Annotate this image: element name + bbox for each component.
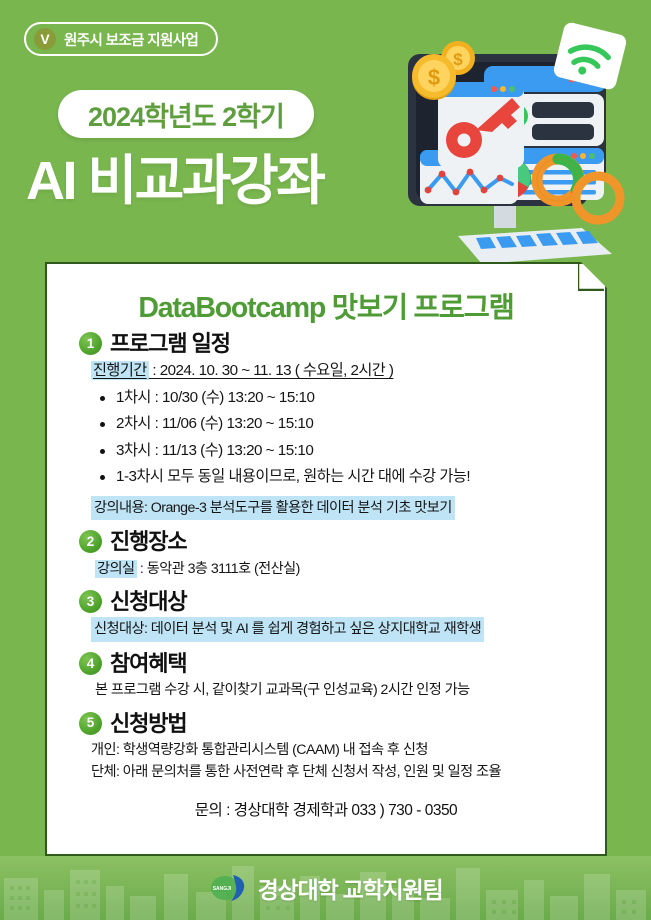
section-header: 5 신청방법 <box>79 711 587 736</box>
section-schedule: 1 프로그램 일정 진행기간 : 2024. 10. 30 ~ 11. 13 (… <box>65 331 587 520</box>
section-number-badge: 2 <box>79 530 102 553</box>
subsidy-badge: V 원주시 보조금 지원사업 <box>24 22 218 56</box>
poster-root: V 원주시 보조금 지원사업 2024학년도 2학기 AI 비교과강좌 <box>0 0 651 920</box>
section-number-badge: 4 <box>79 652 102 675</box>
list-item: 2차시 : 11/06 (수) 13:20 ~ 15:10 <box>99 411 587 437</box>
apply-group-line: 단체: 아래 문의처를 통한 사전연락 후 단체 신청서 작성, 인원 및 일정… <box>91 761 587 783</box>
section-number-badge: 5 <box>79 712 102 735</box>
target-text: 신청대상: 데이터 분석 및 AI 를 쉽게 경험하고 싶은 상지대학교 재학생 <box>91 617 484 641</box>
poster-title: AI 비교과강좌 <box>26 152 323 211</box>
period-value: : 2024. 10. 30 ~ 11. 13 ( 수요일, 2시간 ) <box>149 362 394 379</box>
section-header: 4 참여혜택 <box>79 651 587 676</box>
section-title: 신청방법 <box>110 711 187 736</box>
classroom-value: : 동악관 3층 3111호 (전산실) <box>137 561 300 577</box>
classroom-label: 강의실 <box>95 560 137 578</box>
subsidy-badge-label: 원주시 보조금 지원사업 <box>64 29 198 50</box>
benefit-line: 본 프로그램 수강 시, 같이찾기 교과목(구 인성교육) 2시간 인정 가능 <box>95 679 587 701</box>
university-logo-icon: SANGJI <box>209 871 249 905</box>
svg-text:SANGJI: SANGJI <box>212 886 231 892</box>
list-item: 1-3차시 모두 동일 내용이므로, 원하는 시간 대에 수강 가능! <box>99 464 587 490</box>
section-number-badge: 3 <box>79 590 102 613</box>
period-label: 진행기간 <box>91 361 149 380</box>
section-header: 3 신청대상 <box>79 589 587 614</box>
svg-text:$: $ <box>453 50 463 69</box>
section-location: 2 진행장소 강의실 : 동악관 3층 3111호 (전산실) <box>65 529 587 580</box>
footer-label: 경상대학 교학지원팀 <box>258 871 443 905</box>
semester-pill: 2024학년도 2학기 <box>58 90 314 138</box>
section-target: 3 신청대상 신청대상: 데이터 분석 및 AI 를 쉽게 경험하고 싶은 상지… <box>65 589 587 642</box>
section-benefit: 4 참여혜택 본 프로그램 수강 시, 같이찾기 교과목(구 인성교육) 2시간… <box>65 651 587 702</box>
section-title: 신청대상 <box>110 589 187 614</box>
footer-band: SANGJI 경상대학 교학지원팀 <box>0 856 651 920</box>
section-title: 참여혜택 <box>110 651 187 676</box>
lecture-content-text: 강의내용: Orange-3 분석도구를 활용한 데이터 분석 기초 맛보기 <box>91 496 455 520</box>
section-header: 2 진행장소 <box>79 529 587 554</box>
content-card: DataBootcamp 맛보기 프로그램 1 프로그램 일정 진행기간 : 2… <box>45 262 607 856</box>
svg-text:$: $ <box>428 65 440 90</box>
lecture-content-line: 강의내용: Orange-3 분석도구를 활용한 데이터 분석 기초 맛보기 <box>91 496 587 520</box>
section-header: 1 프로그램 일정 <box>79 331 587 356</box>
data-analytics-illustration: $ $ <box>386 22 644 272</box>
section-title: 프로그램 일정 <box>110 331 230 356</box>
list-item: 3차시 : 11/13 (수) 13:20 ~ 15:10 <box>99 438 587 464</box>
apply-individual-line: 개인: 학생역량강화 통합관리시스템 (CAAM) 내 접속 후 신청 <box>91 739 587 761</box>
semester-label: 2024학년도 2학기 <box>88 95 284 134</box>
wonju-v-icon: V <box>34 28 56 50</box>
contact-line: 문의 : 경상대학 경제학과 033 ) 730 - 0350 <box>65 798 587 820</box>
target-line: 신청대상: 데이터 분석 및 AI 를 쉽게 경험하고 싶은 상지대학교 재학생 <box>91 617 587 641</box>
program-title: DataBootcamp 맛보기 프로그램 <box>65 285 587 326</box>
section-number-badge: 1 <box>79 332 102 355</box>
period-line: 진행기간 : 2024. 10. 30 ~ 11. 13 ( 수요일, 2시간 … <box>91 359 587 383</box>
section-apply: 5 신청방법 개인: 학생역량강화 통합관리시스템 (CAAM) 내 접속 후 … <box>65 711 587 784</box>
section-title: 진행장소 <box>110 529 187 554</box>
schedule-list: 1차시 : 10/30 (수) 13:20 ~ 15:10 2차시 : 11/0… <box>99 385 587 490</box>
list-item: 1차시 : 10/30 (수) 13:20 ~ 15:10 <box>99 385 587 411</box>
location-line: 강의실 : 동악관 3층 3111호 (전산실) <box>95 558 587 580</box>
